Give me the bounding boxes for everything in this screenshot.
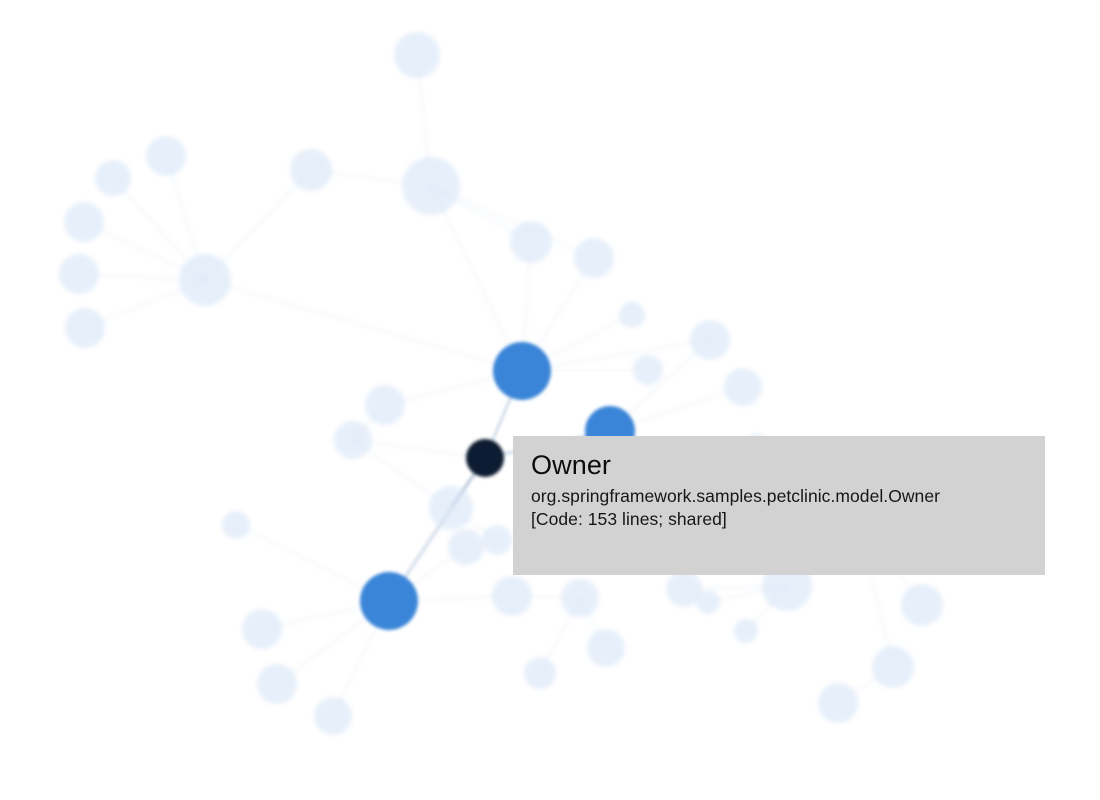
graph-canvas[interactable] <box>0 0 1100 800</box>
graph-node[interactable] <box>394 32 440 78</box>
graph-node[interactable] <box>818 683 858 723</box>
graph-node[interactable] <box>429 486 473 530</box>
graph-node[interactable] <box>222 511 250 539</box>
graph-node[interactable] <box>510 221 552 263</box>
graph-node[interactable] <box>524 657 556 689</box>
graph-node[interactable] <box>561 579 599 617</box>
graph-node[interactable] <box>574 238 614 278</box>
graph-node[interactable] <box>482 525 512 555</box>
graph-node[interactable] <box>314 697 352 735</box>
graph-edge <box>353 440 485 458</box>
graph-node[interactable] <box>690 320 730 360</box>
graph-node[interactable] <box>696 590 720 614</box>
tooltip-title: Owner <box>531 450 1027 482</box>
graph-node[interactable] <box>334 421 372 459</box>
graph-node[interactable] <box>734 619 758 643</box>
graph-node[interactable] <box>492 576 532 616</box>
graph-node[interactable] <box>587 629 625 667</box>
graph-node[interactable] <box>901 584 943 626</box>
graph-node[interactable] <box>179 254 231 306</box>
graph-edge <box>431 186 522 371</box>
graph-node[interactable] <box>724 368 762 406</box>
graph-node-layer[interactable] <box>59 32 943 735</box>
graph-node[interactable] <box>493 342 551 400</box>
graph-node[interactable] <box>65 308 105 348</box>
graph-node[interactable] <box>619 302 645 328</box>
graph-node[interactable] <box>95 160 131 196</box>
graph-node[interactable] <box>59 254 99 294</box>
tooltip-metrics: [Code: 153 lines; shared] <box>531 509 1027 530</box>
graph-node-selected[interactable] <box>466 439 504 477</box>
graph-node[interactable] <box>402 157 460 215</box>
graph-edge <box>205 280 522 371</box>
graph-node[interactable] <box>360 572 418 630</box>
graph-node[interactable] <box>64 202 104 242</box>
graph-node[interactable] <box>365 385 405 425</box>
tooltip-qualified-name: org.springframework.samples.petclinic.mo… <box>531 486 1027 507</box>
node-tooltip: Owner org.springframework.samples.petcli… <box>513 436 1045 575</box>
graph-node[interactable] <box>633 355 663 385</box>
graph-node[interactable] <box>242 609 282 649</box>
graph-node[interactable] <box>146 136 186 176</box>
graph-node[interactable] <box>257 664 297 704</box>
graph-node[interactable] <box>290 149 332 191</box>
graph-node[interactable] <box>872 646 914 688</box>
graph-visualization-app[interactable]: Owner org.springframework.samples.petcli… <box>0 0 1100 800</box>
graph-node[interactable] <box>448 529 484 565</box>
